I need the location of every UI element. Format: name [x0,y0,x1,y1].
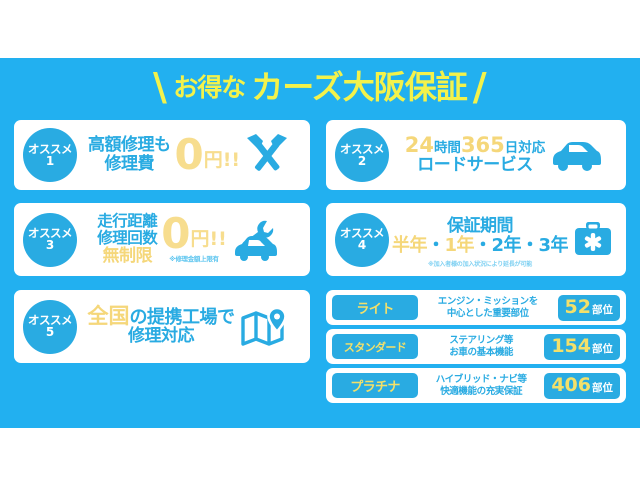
plan-row-standard[interactable]: スタンダード ステアリング等 お車の基本機能 154 部位 [326,329,626,364]
period-sep-3: ・ [521,235,539,256]
feature-card-1-body: 高額修理も 修理費 0 円!! [77,133,310,177]
hours-number: 24 [405,135,434,156]
period-three-year: 3年 [539,235,569,256]
recommend-badge-number: 4 [358,239,366,252]
plan-count-platinum: 406 部位 [544,373,620,399]
plan-desc-line2: 中心とした重要部位 [447,308,529,320]
title-slash-left-icon: / [153,68,167,106]
days-number: 365 [461,135,505,156]
plan-description-standard: ステアリング等 お車の基本機能 [418,335,544,359]
feature-card-3-text: 走行距離 修理回数 無制限 [97,213,157,267]
feature-card-1-text: 高額修理も 修理費 [88,136,171,174]
feature-card-4-fine-print: ※加入者様の加入状況により延長が可能 [428,259,532,268]
period-two-year: 2年 [491,235,521,256]
feature-card-5-body: 全国の提携工場で 修理対応 [77,306,310,348]
plan-count-unit: 部位 [592,344,613,355]
price-yen-unit: 円!! [190,230,226,252]
plan-description-light: エンジン・ミッションを 中心とした重要部位 [418,296,558,320]
plan-name-standard: スタンダード [332,334,418,359]
plan-desc-line2: 快適機能の充実保証 [440,386,522,398]
feature-card-2-text: 24時間365日対応 ロードサービス [405,135,546,175]
recommend-badge-number: 2 [358,155,366,168]
recommend-badge-3: オススメ 3 [23,213,77,267]
plan-row-light[interactable]: ライト エンジン・ミッションを 中心とした重要部位 52 部位 [326,290,626,325]
title-slash-right-icon: / [473,68,487,106]
feature-card-4: オススメ 4 保証期間 半年・1年・2年・3年 ※加入者様の加入状況により延長が… [326,203,626,276]
title-prefix: お得な [173,75,245,100]
feature-card-5: オススメ 5 全国の提携工場で 修理対応 [14,290,310,363]
period-half-year: 半年 [392,235,427,256]
price-zero: 0 [161,216,190,253]
feature-card-3-price-wrap: 0 円!! ※修理金額上限有 [161,216,227,264]
days-unit: 日対応 [505,142,546,156]
plan-desc-line1: ハイブリッド・ナビ等 [436,374,527,386]
feature-card-3: オススメ 3 走行距離 修理回数 無制限 0 円!! ※修理金額上限有 [14,203,310,276]
plan-count-unit: 部位 [592,305,613,316]
recommend-badge-label: オススメ [340,143,384,155]
feature-card-2-body: 24時間365日対応 ロードサービス [389,135,626,175]
price-yen-unit: 円!! [204,151,240,173]
feature-card-4-period: 半年・1年・2年・3年 [392,236,568,256]
recommend-badge-number: 5 [46,326,54,339]
price-zero: 0 [174,137,203,174]
hours-unit: 時間 [434,142,461,156]
feature-card-4-body: 保証期間 半年・1年・2年・3年 ※加入者様の加入状況により延長が可能 [389,211,626,268]
first-aid-case-icon [572,219,614,259]
plan-desc-line1: エンジン・ミッションを [438,296,538,308]
plan-count-number: 52 [565,295,591,321]
hammer-wrench-icon [244,133,290,177]
feature-card-3-body: 走行距離 修理回数 無制限 0 円!! ※修理金額上限有 [77,213,310,267]
advertisement-banner: / お得な カーズ大阪保証 / オススメ 1 高額修理も 修理費 0 円!! [0,0,640,480]
feature-card-3-line1: 走行距離 [97,213,157,230]
feature-card-2-line1: 24時間365日対応 [405,135,546,156]
feature-card-1: オススメ 1 高額修理も 修理費 0 円!! [14,120,310,190]
plan-desc-line1: ステアリング等 [449,335,513,347]
plan-count-unit: 部位 [592,383,613,394]
feature-card-3-line2: 修理回数 [97,230,157,247]
feature-card-2-line2: ロードサービス [417,156,533,175]
map-pin-icon [239,306,291,348]
feature-card-5-text: 全国の提携工場で 修理対応 [88,306,235,346]
car-wrench-icon [231,218,281,262]
recommend-badge-2: オススメ 2 [335,128,389,182]
plan-row-platinum[interactable]: プラチナ ハイブリッド・ナビ等 快適機能の充実保証 406 部位 [326,368,626,403]
plan-count-standard: 154 部位 [544,334,620,360]
feature-card-3-fine-print: ※修理金額上限有 [169,253,218,263]
feature-card-1-line2: 修理費 [104,155,154,174]
feature-card-5-line2: 修理対応 [128,327,194,346]
feature-card-3-price: 0 円!! [161,216,227,253]
car-icon [549,138,601,172]
feature-card-5-line1-rest: の提携工場で [130,309,235,327]
plan-name-light: ライト [332,295,418,320]
feature-card-3-line3: 無制限 [102,247,152,266]
title-main: カーズ大阪保証 [251,71,466,103]
feature-card-1-price: 0 円!! [174,137,240,174]
page-title: / お得な カーズ大阪保証 / [0,64,640,110]
plan-description-platinum: ハイブリッド・ナビ等 快適機能の充実保証 [418,374,544,398]
period-one-year: 1年 [444,235,474,256]
period-sep-1: ・ [427,235,445,256]
feature-card-5-line1: 全国の提携工場で [88,306,235,327]
recommend-badge-4: オススメ 4 [335,213,389,267]
feature-card-2: オススメ 2 24時間365日対応 ロードサービス [326,120,626,190]
recommend-badge-1: オススメ 1 [23,128,77,182]
recommend-badge-5: オススメ 5 [23,300,77,354]
plan-count-number: 154 [551,334,591,360]
nationwide-highlight: 全国 [88,306,130,327]
feature-card-1-line1: 高額修理も [88,136,171,155]
recommend-badge-number: 1 [46,155,54,168]
plan-desc-line2: お車の基本機能 [449,347,513,359]
plan-name-platinum: プラチナ [332,373,418,398]
recommend-badge-label: オススメ [28,143,72,155]
period-sep-2: ・ [474,235,492,256]
plan-count-number: 406 [551,373,591,399]
recommend-badge-number: 3 [46,239,54,252]
feature-card-4-line1: 保証期間 [447,211,513,236]
plan-count-light: 52 部位 [558,295,620,321]
feature-card-4-text: 保証期間 半年・1年・2年・3年 ※加入者様の加入状況により延長が可能 [392,211,568,268]
